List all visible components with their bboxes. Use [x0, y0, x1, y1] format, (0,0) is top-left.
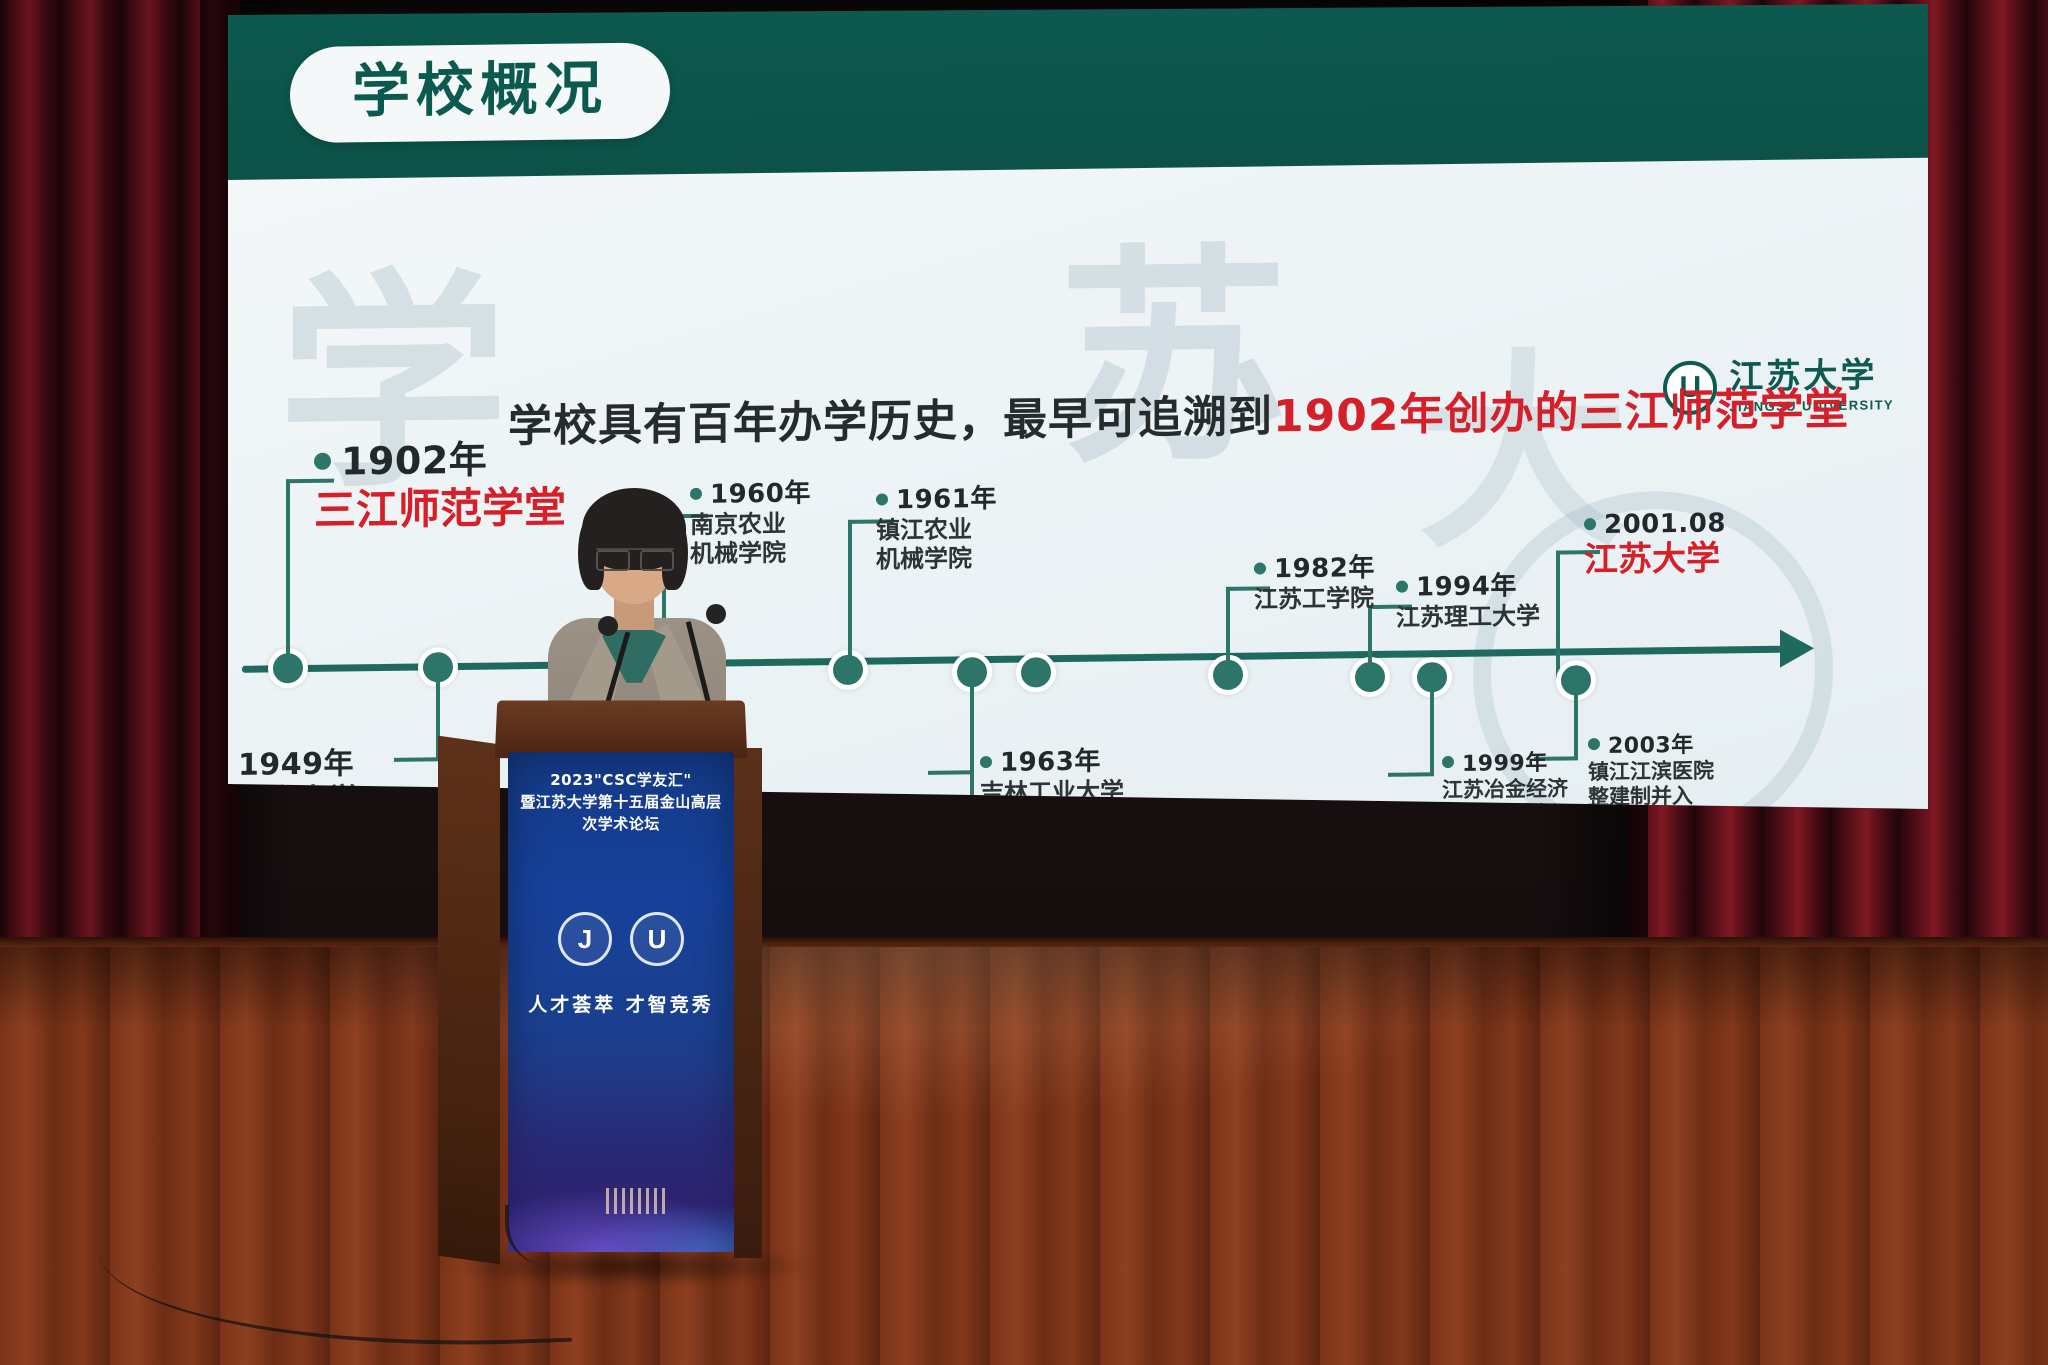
timeline-stem — [394, 757, 440, 762]
timeline-year: 1961年 — [876, 478, 997, 517]
timeline-stem — [1388, 772, 1434, 777]
podium-banner: 2023"CSC学友汇" 暨江苏大学第十五届金山高层次学术论坛 J U 人才荟萃… — [508, 752, 734, 1252]
timeline-node — [1016, 652, 1056, 693]
podium-banner-logos: J U — [508, 912, 734, 966]
timeline-entry-1982: 1982年 江苏工学院 — [1254, 547, 1375, 615]
podium-right-edge — [734, 748, 762, 1258]
timeline-stem — [1226, 587, 1230, 675]
timeline-entry-2003: 2003年 镇江江滨医院 整建制并入 — [1588, 727, 1714, 811]
timeline-year: 1902年 — [314, 428, 566, 486]
bullet-dot-icon — [1254, 562, 1266, 574]
timeline-year: 1982年 — [1254, 547, 1375, 586]
timeline-entry-2001: 2001.08 江苏大学 — [1584, 508, 1726, 581]
timeline-name: 镇江江滨医院 整建制并入 — [1588, 759, 1714, 811]
timeline-entry-1994: 1994年 江苏理工大学 — [1396, 565, 1540, 633]
timeline-arrow-icon — [1780, 629, 1814, 667]
timeline-stem — [1556, 551, 1560, 679]
timeline-stem — [1574, 680, 1578, 758]
microphone-head-right — [706, 604, 726, 624]
bullet-dot-icon — [980, 756, 992, 768]
speaker-glasses-icon — [596, 548, 674, 566]
podium: 2023"CSC学友汇" 暨江苏大学第十五届金山高层次学术论坛 J U 人才荟萃… — [496, 700, 746, 1280]
slide-headline: 学校具有百年办学历史，最早可追溯到1902年创办的三江师范学堂 — [508, 373, 1849, 455]
bullet-dot-icon — [1584, 518, 1596, 530]
stage-scene: 学校概况 学 苏 大 UNIVERSITY U 江苏大学 JIANGSU UNI… — [0, 0, 2048, 1365]
bullet-dot-icon — [876, 493, 888, 505]
timeline-entry-1902: 1902年 三江师范学堂 — [314, 428, 566, 536]
timeline-year: 1994年 — [1396, 565, 1540, 604]
stage-floor-edge — [0, 937, 2048, 947]
timeline-stem — [1430, 677, 1434, 775]
podium-banner-slogan: 人才荟萃 才智竞秀 — [508, 990, 734, 1017]
timeline-name: 江苏大学 — [1584, 538, 1726, 581]
microphone-head-left — [598, 616, 618, 636]
timeline-stem — [848, 520, 852, 670]
csc-logo-icon: J — [558, 912, 612, 966]
timeline-name: 三江师范学堂 — [314, 483, 566, 536]
timeline-year: 2001.08 — [1584, 508, 1726, 540]
bullet-dot-icon — [1442, 756, 1454, 768]
bullet-dot-icon — [1396, 581, 1408, 593]
timeline-stem — [286, 479, 290, 669]
timeline-stem — [1368, 605, 1372, 677]
podium-banner-city-graphic — [606, 1188, 670, 1214]
timeline-stem — [928, 770, 974, 775]
timeline-year: 1999年 — [1442, 744, 1568, 778]
podium-top-surface — [495, 700, 748, 758]
bullet-dot-icon — [314, 453, 331, 470]
timeline-year: 1949年 — [238, 738, 358, 784]
podium-side-panel — [438, 736, 500, 1265]
timeline-name: 镇江农业 机械学院 — [876, 515, 997, 575]
headline-highlight: 1902年创办的三江师范学堂 — [1273, 384, 1849, 443]
jiangsu-university-logo-icon: U — [630, 912, 684, 966]
podium-banner-title: 2023"CSC学友汇" 暨江苏大学第十五届金山高层次学术论坛 — [508, 770, 734, 835]
watermark-char-2: 苏 — [1058, 171, 1288, 507]
timeline-name: 江苏理工大学 — [1396, 602, 1540, 633]
slide-section-title-pill: 学校概况 — [290, 42, 670, 143]
timeline-entry-1961: 1961年 镇江农业 机械学院 — [876, 478, 997, 575]
timeline-year: 1963年 — [980, 739, 1196, 779]
headline-prefix: 学校具有百年办学历史，最早可追溯到 — [508, 391, 1273, 452]
slide-section-title: 学校概况 — [352, 54, 608, 125]
timeline-name: 江苏工学院 — [1254, 584, 1375, 615]
bullet-dot-icon — [690, 488, 702, 500]
timeline-year: 2003年 — [1588, 727, 1714, 761]
bullet-dot-icon — [1588, 738, 1600, 750]
